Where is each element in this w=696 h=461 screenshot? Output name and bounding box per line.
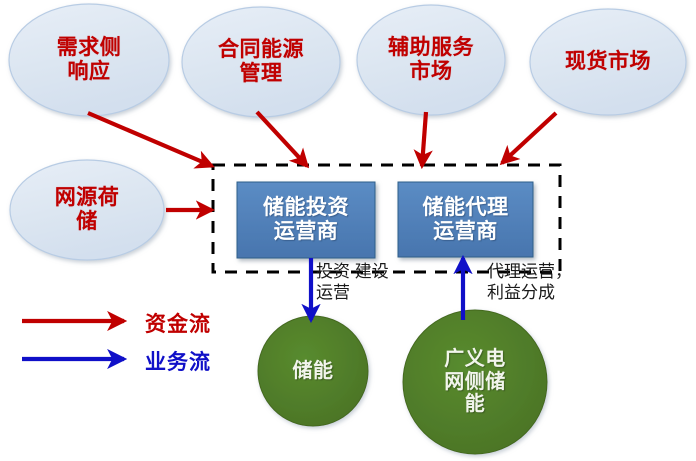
capital-flow-arrow-spot-market-to-box	[502, 113, 556, 163]
source-ellipse-demand-response	[9, 4, 169, 116]
operator-box-storage-investment-operator	[237, 182, 375, 258]
asset-circle-energy-storage	[258, 316, 368, 426]
source-ellipse-spot-market	[530, 9, 686, 115]
capital-flow-arrow-ancillary-market-to-box	[422, 112, 426, 166]
capital-flow-arrow-contract-management-to-box	[257, 112, 307, 166]
source-ellipse-energy-contract-management	[182, 7, 340, 117]
legend-label-legend-business-flow: 业务流	[145, 346, 211, 376]
capital-flow-arrow-demand-response-to-box	[88, 113, 212, 166]
source-ellipse-ancillary-service-market	[357, 5, 505, 115]
diagram-canvas: 需求侧 响应合同能源 管理辅助服务 市场现货市场网源荷 储储能投资 运营商储能代…	[0, 0, 696, 461]
diagram-graphics	[0, 0, 696, 461]
asset-circle-grid-side-storage	[403, 310, 547, 454]
source-ellipse-grid-source-load-storage	[10, 160, 164, 260]
operator-box-storage-agent-operator	[398, 182, 533, 257]
asset-circle-shapes	[258, 310, 547, 454]
legend-label-legend-capital-flow: 资金流	[145, 308, 211, 338]
business-flow-arrows	[311, 258, 463, 320]
legend-arrows	[22, 321, 124, 359]
operator-box-shapes	[237, 182, 533, 258]
